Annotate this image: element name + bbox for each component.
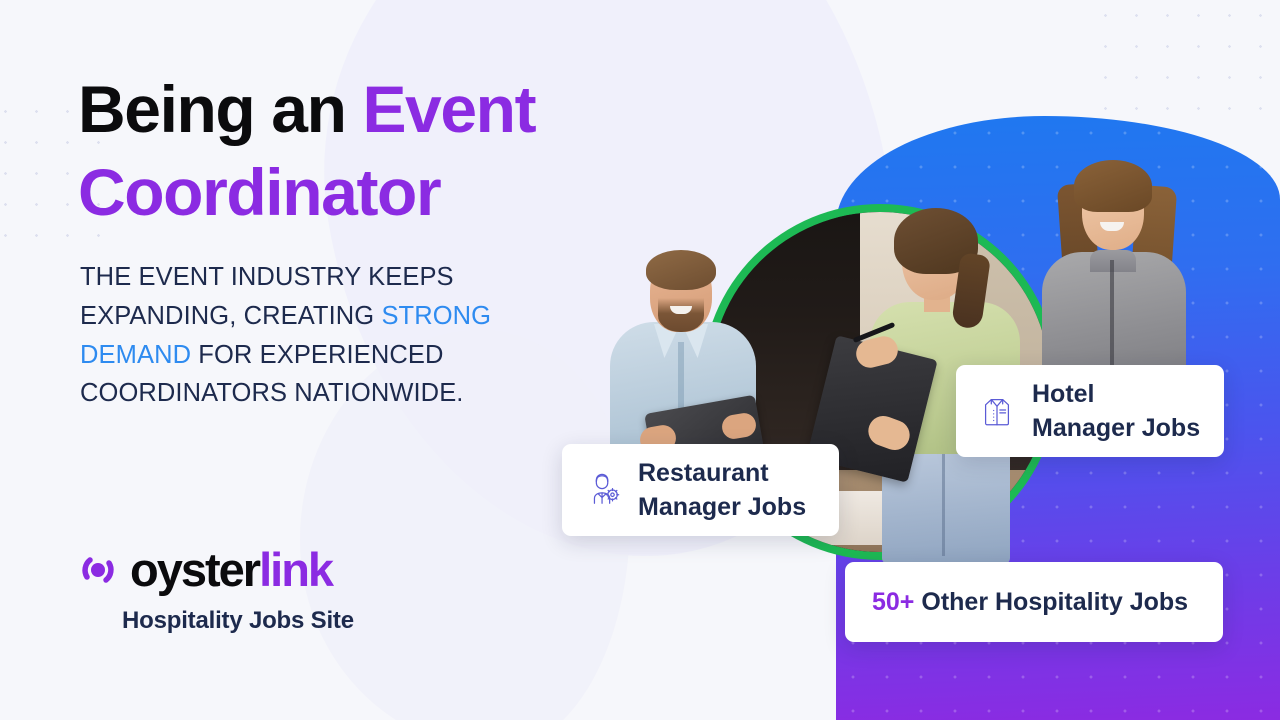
headline-accent-event: Event: [362, 72, 535, 146]
person-man-tablet: [604, 256, 764, 456]
hero-banner: Being an EventCoordinator THE EVENT INDU…: [0, 0, 1280, 720]
logo-tagline: Hospitality Jobs Site: [122, 607, 438, 635]
card-other-hospitality-jobs[interactable]: 50+ Other Hospitality Jobs: [845, 562, 1223, 642]
oyster-swirl-icon: [78, 550, 118, 590]
card-other-count: 50+: [872, 588, 914, 616]
card-hotel-manager-jobs[interactable]: Hotel Manager Jobs: [956, 365, 1224, 457]
man-beard: [658, 298, 704, 332]
woman-center-jeans-seam: [942, 454, 945, 556]
logo-word-dark: oyster: [130, 543, 259, 596]
subheadline: THE EVENT INDUSTRY KEEPS EXPANDING, CREA…: [80, 258, 550, 413]
card-restaurant-manager-jobs[interactable]: Restaurant Manager Jobs: [562, 444, 839, 536]
page-title: Being an EventCoordinator: [78, 68, 718, 233]
man-hair: [646, 250, 716, 290]
person-with-gear-icon: [584, 471, 622, 509]
logo-row: oysterlink: [78, 546, 438, 593]
logo-wordmark: oysterlink: [130, 546, 332, 593]
woman-right-hair-top: [1074, 160, 1152, 212]
brand-logo[interactable]: oysterlink Hospitality Jobs Site: [78, 546, 438, 635]
dress-shirt-icon: [978, 392, 1016, 430]
logo-word-accent: link: [259, 543, 332, 596]
card-other-label: 50+ Other Hospitality Jobs: [872, 585, 1188, 619]
card-hotel-label: Hotel Manager Jobs: [1032, 377, 1200, 445]
card-restaurant-label: Restaurant Manager Jobs: [638, 456, 806, 524]
dot-grid-top-right: [1090, 0, 1280, 128]
headline-accent-coordinator: Coordinator: [78, 155, 440, 229]
card-other-text: Other Hospitality Jobs: [914, 588, 1188, 616]
headline-plain: Being an: [78, 72, 362, 146]
